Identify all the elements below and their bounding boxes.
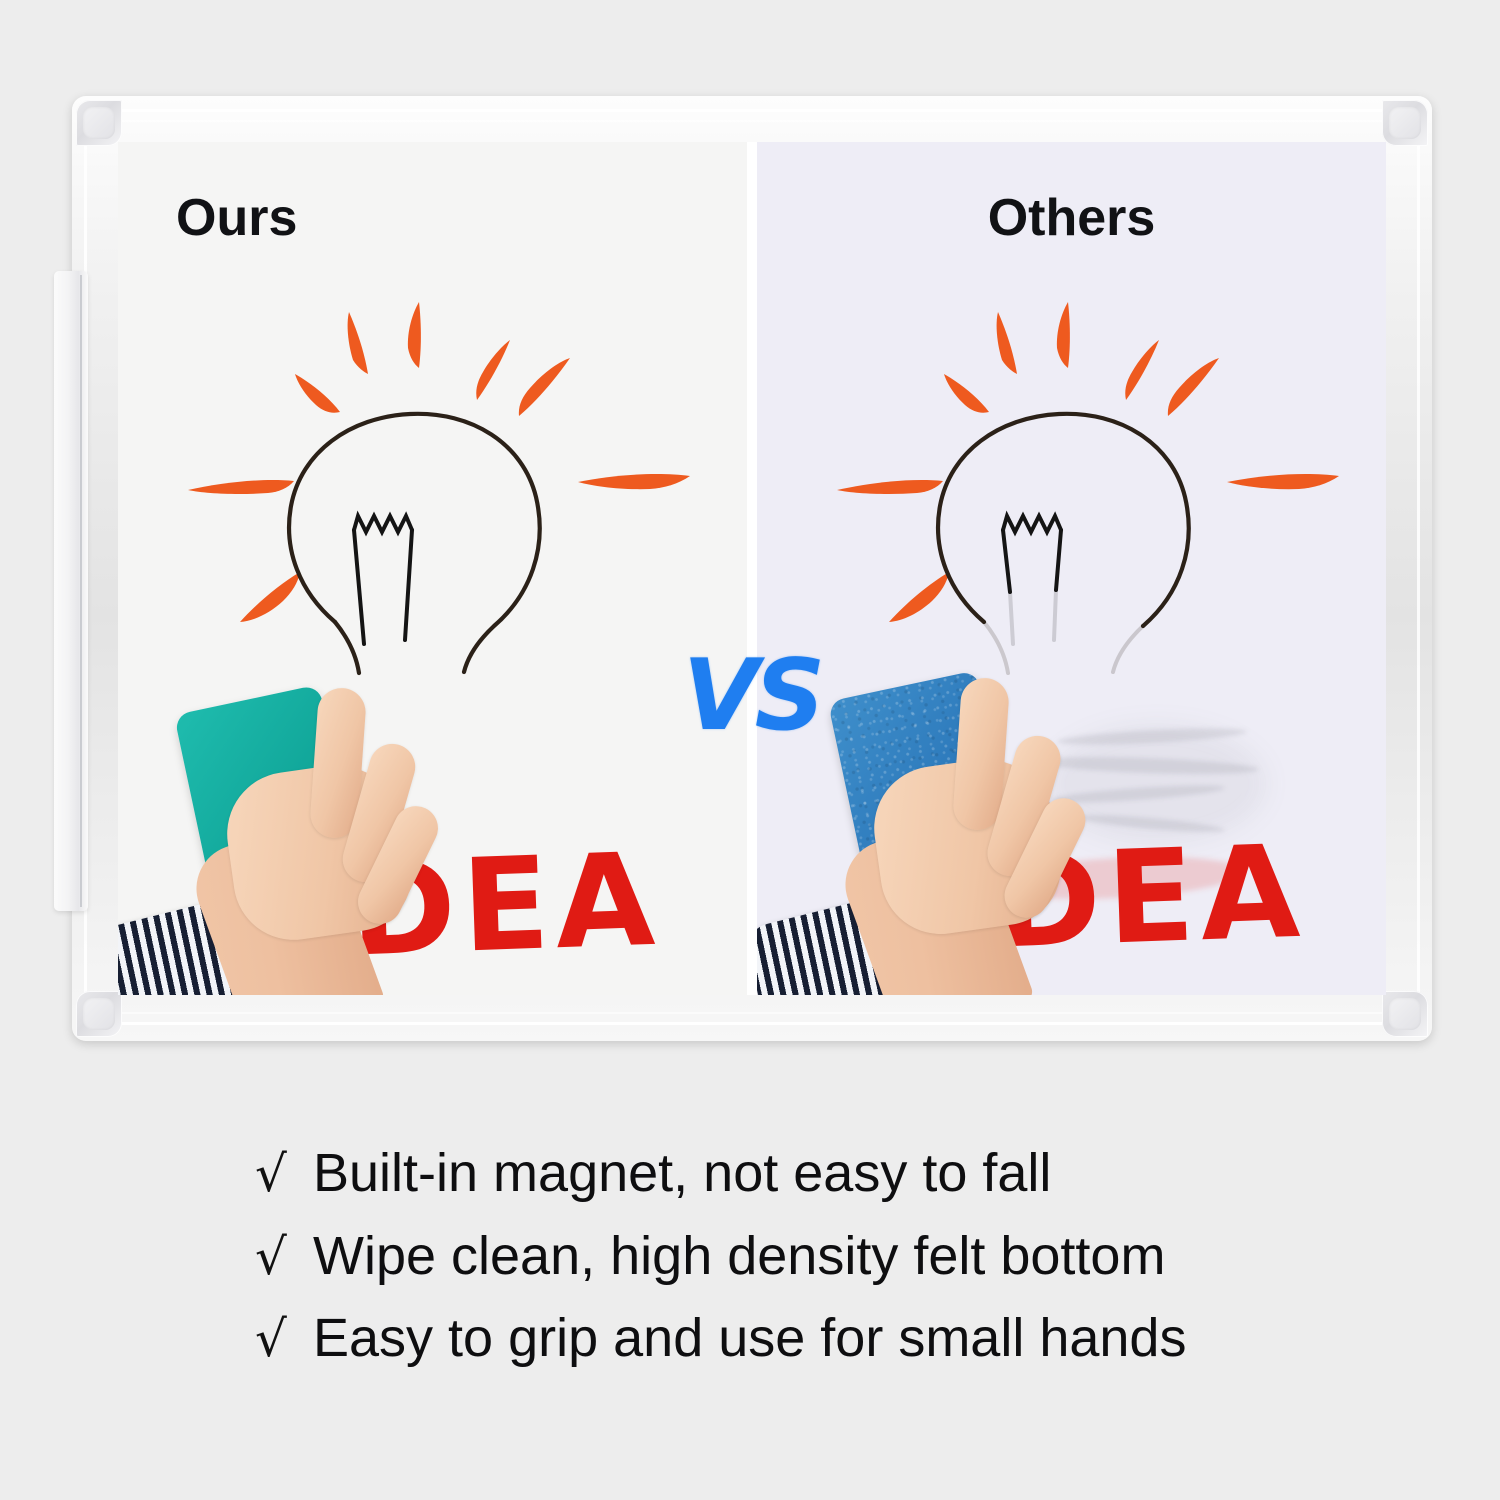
feature-text: Wipe clean, high density felt bottom [313,1228,1165,1285]
lightbulb-drawing-others [827,292,1347,692]
bulb-rays-ours [188,302,690,634]
bulb-filament-ours [354,516,412,644]
bulb-outline-ours [289,414,540,673]
check-icon: √ [255,1314,313,1364]
product-comparison-image: IDEA Ours [0,0,1500,1500]
frame-corner-top-right [1382,100,1428,146]
whiteboard-surface: IDEA Ours [118,142,1386,995]
ours-drawing-scene: IDEA [118,142,747,995]
panel-others: IDEA Others [757,142,1386,995]
vs-badge: VS [683,639,821,753]
bulb-filament-faded-others [1010,590,1056,644]
frame-corner-bottom-left [76,991,122,1037]
bulb-filament-others [1003,516,1061,592]
panel-divider [747,142,757,995]
frame-highlight-bottom-secondary [90,1012,1414,1014]
feature-text: Easy to grip and use for small hands [313,1310,1186,1367]
frame-corner-bottom-right [1382,991,1428,1037]
frame-highlight-bottom [90,1022,1414,1025]
frame-highlight-top [90,109,1414,112]
frame-highlight-right [1417,114,1420,1023]
whiteboard-frame: IDEA Ours [72,96,1432,1041]
panel-title-ours: Ours [176,188,297,248]
frame-highlight-top-secondary [90,120,1414,122]
others-drawing-scene: IDEA [757,142,1386,995]
feature-item: √ Built-in magnet, not easy to fall [255,1145,1335,1202]
feature-item: √ Easy to grip and use for small hands [255,1310,1335,1367]
feature-text: Built-in magnet, not easy to fall [313,1145,1051,1202]
frame-corner-top-left [76,100,122,146]
panel-title-others: Others [988,188,1156,248]
bulb-outline-others [938,414,1189,626]
check-icon: √ [255,1149,313,1199]
bulb-rays-others [837,302,1339,622]
feature-item: √ Wipe clean, high density felt bottom [255,1228,1335,1285]
check-icon: √ [255,1232,313,1282]
feature-list: √ Built-in magnet, not easy to fall √ Wi… [255,1145,1335,1393]
panel-ours: IDEA Ours [118,142,747,995]
bulb-outline-faded-others [984,622,1143,673]
pen-tray [54,271,88,911]
lightbulb-drawing-ours [178,292,698,692]
